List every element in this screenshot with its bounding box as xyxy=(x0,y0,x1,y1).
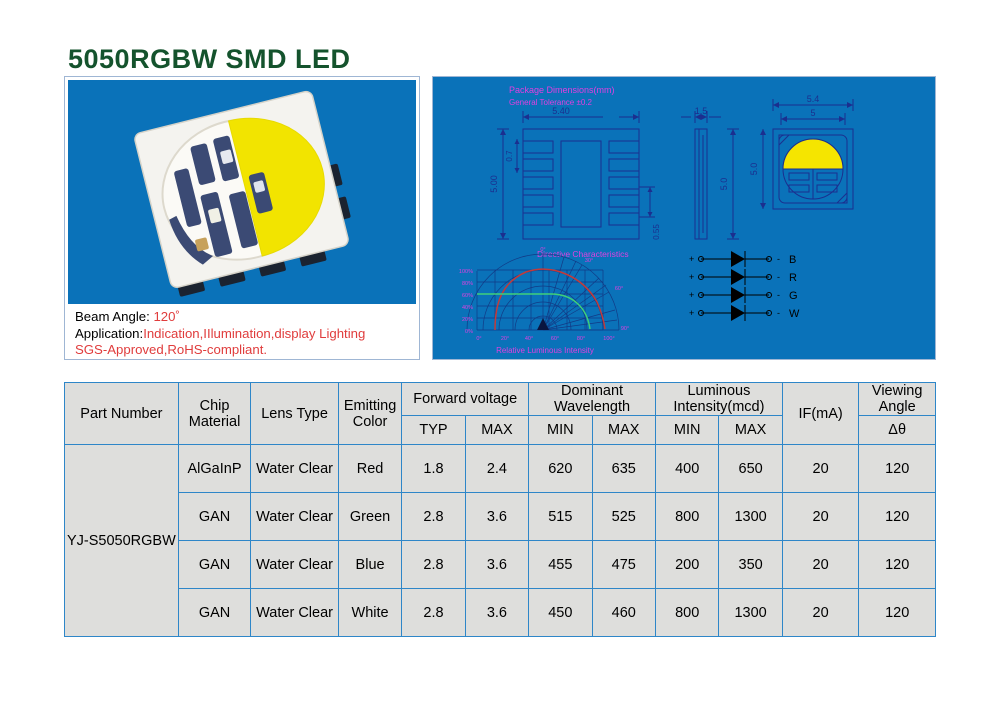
cell-emitting-color: White xyxy=(338,589,401,637)
datasheet-page: 5050RGBW SMD LED xyxy=(0,0,1000,704)
header-luminous-intensity-l2: Intensity(mcd) xyxy=(656,399,782,415)
dim-side-width: 1.5 xyxy=(695,106,708,116)
polar-ytick-1: 80% xyxy=(462,281,473,287)
cell-vf-typ: 2.8 xyxy=(402,493,465,541)
polarity-label-w: W xyxy=(789,308,800,320)
polar-xlabel: Relative Luminous Intensity xyxy=(496,346,594,355)
page-title: 5050RGBW SMD LED xyxy=(68,44,351,75)
header-wl-max: MAX xyxy=(592,416,655,445)
table-row: YJ-S5050RGBW AlGaInP Water Clear Red 1.8… xyxy=(65,445,936,493)
dim-width-top: 5.40 xyxy=(552,106,570,116)
cell-if: 20 xyxy=(782,445,859,493)
polar-angle-0: 0° xyxy=(540,247,545,253)
header-forward-voltage: Forward voltage xyxy=(402,383,529,416)
cell-chip-material: AlGaInP xyxy=(178,445,250,493)
application-label: Application: xyxy=(75,326,143,341)
photo-caption: Beam Angle: 120˚ Application:Indication,… xyxy=(75,309,413,359)
header-iv-max: MAX xyxy=(719,416,782,445)
dim-height-left: 5.00 xyxy=(489,175,499,193)
polar-angle-2: 60° xyxy=(615,286,623,292)
cell-wl-min: 620 xyxy=(529,445,592,493)
polar-ytick-0: 100% xyxy=(459,269,473,275)
specification-table: Part Number Chip Material Lens Type Emit… xyxy=(64,382,936,637)
cell-vf-typ: 1.8 xyxy=(402,445,465,493)
cell-chip-material: GAN xyxy=(178,541,250,589)
polar-xtick-0: 0° xyxy=(476,336,481,342)
dim-side-height: 5.0 xyxy=(719,178,729,191)
polarity-plus-b: + xyxy=(689,254,694,264)
cell-vf-max: 3.6 xyxy=(465,493,528,541)
compliance-line: SGS-Approved,RoHS-compliant. xyxy=(75,342,413,359)
header-viewing-angle-l1: Viewing xyxy=(859,383,935,399)
header-vf-max: MAX xyxy=(465,416,528,445)
cell-vf-max: 3.6 xyxy=(465,589,528,637)
cell-vf-max: 3.6 xyxy=(465,541,528,589)
polarity-minus-w: - xyxy=(777,308,780,318)
polar-angle-3: 90° xyxy=(621,326,629,332)
header-dominant-wavelength-l2: Wavelength xyxy=(529,399,655,415)
header-emitting-color: Emitting Color xyxy=(338,383,401,445)
polar-xtick-5: 100° xyxy=(603,336,614,342)
header-emitting-color-l1: Emitting xyxy=(339,398,401,414)
cell-vf-max: 2.4 xyxy=(465,445,528,493)
header-luminous-intensity-l1: Luminous xyxy=(656,383,782,399)
cell-lens-type: Water Clear xyxy=(251,493,339,541)
header-dominant-wavelength-l1: Dominant xyxy=(529,383,655,399)
cell-iv-min: 800 xyxy=(655,493,718,541)
application-value: Indication,IIlumination,display Lighting xyxy=(143,326,365,341)
cell-lens-type: Water Clear xyxy=(251,589,339,637)
polar-ytick-2: 60% xyxy=(462,293,473,299)
cell-lens-type: Water Clear xyxy=(251,445,339,493)
cell-iv-max: 1300 xyxy=(719,493,782,541)
cell-if: 20 xyxy=(782,541,859,589)
cell-emitting-color: Red xyxy=(338,445,401,493)
cell-lens-type: Water Clear xyxy=(251,541,339,589)
polar-ytick-4: 20% xyxy=(462,317,473,323)
product-photo-panel: Beam Angle: 120˚ Application:Indication,… xyxy=(64,76,420,360)
dim-top-outer: 5.4 xyxy=(807,94,820,104)
cell-iv-max: 350 xyxy=(719,541,782,589)
polar-angle-1: 30° xyxy=(585,258,593,264)
table-row: GAN Water Clear White 2.8 3.6 450 460 80… xyxy=(65,589,936,637)
led-photo-illustration xyxy=(68,80,416,303)
polar-ytick-3: 40% xyxy=(462,305,473,311)
polar-ytick-5: 0% xyxy=(465,329,473,335)
cell-vf-typ: 2.8 xyxy=(402,589,465,637)
header-dominant-wavelength: Dominant Wavelength xyxy=(529,383,656,416)
polarity-minus-r: - xyxy=(777,272,780,282)
polarity-label-g: G xyxy=(789,290,798,302)
cell-chip-material: GAN xyxy=(178,493,250,541)
polarity-plus-r: + xyxy=(689,272,694,282)
cell-iv-max: 1300 xyxy=(719,589,782,637)
header-emitting-color-l2: Color xyxy=(339,414,401,430)
dim-pad2: 0.55 xyxy=(652,224,661,240)
header-luminous-intensity: Luminous Intensity(mcd) xyxy=(655,383,782,416)
dim-top-left: 5.0 xyxy=(749,163,759,176)
cell-wl-max: 475 xyxy=(592,541,655,589)
cell-iv-min: 800 xyxy=(655,589,718,637)
cell-viewing-angle: 120 xyxy=(859,541,936,589)
beam-angle-line: Beam Angle: 120˚ xyxy=(75,309,413,326)
header-vf-typ: TYP xyxy=(402,416,465,445)
technical-drawing: Package Dimensions(mm) General Tolerance… xyxy=(433,77,935,359)
cell-viewing-angle: 120 xyxy=(859,589,936,637)
compliance-value: SGS-Approved,RoHS-compliant. xyxy=(75,342,267,357)
cell-wl-max: 635 xyxy=(592,445,655,493)
cell-viewing-angle: 120 xyxy=(859,445,936,493)
cell-iv-max: 650 xyxy=(719,445,782,493)
cell-emitting-color: Green xyxy=(338,493,401,541)
technical-drawing-panel: Package Dimensions(mm) General Tolerance… xyxy=(432,76,936,360)
beam-angle-label: Beam Angle: xyxy=(75,309,153,324)
polarity-plus-g: + xyxy=(689,290,694,300)
dim-top-inner: 5 xyxy=(810,108,815,118)
header-chip-material-l1: Chip xyxy=(179,398,250,414)
header-iv-min: MIN xyxy=(655,416,718,445)
polar-xtick-2: 40° xyxy=(525,336,533,342)
cell-wl-max: 460 xyxy=(592,589,655,637)
polarity-minus-g: - xyxy=(777,290,780,300)
tolerance-note: General Tolerance ±0.2 xyxy=(509,98,593,107)
header-viewing-angle-l2: Angle xyxy=(859,399,935,415)
cell-emitting-color: Blue xyxy=(338,541,401,589)
cell-viewing-angle: 120 xyxy=(859,493,936,541)
header-delta-theta: Δθ xyxy=(859,416,936,445)
polar-xtick-1: 20° xyxy=(501,336,509,342)
polarity-minus-b: - xyxy=(777,254,780,264)
header-chip-material: Chip Material xyxy=(178,383,250,445)
cell-if: 20 xyxy=(782,589,859,637)
header-viewing-angle: Viewing Angle xyxy=(859,383,936,416)
header-wl-min: MIN xyxy=(529,416,592,445)
header-part-number: Part Number xyxy=(65,383,179,445)
polarity-label-b: B xyxy=(789,254,796,266)
header-chip-material-l2: Material xyxy=(179,414,250,430)
polar-xtick-3: 60° xyxy=(551,336,559,342)
table-row: GAN Water Clear Blue 2.8 3.6 455 475 200… xyxy=(65,541,936,589)
polarity-label-r: R xyxy=(789,272,797,284)
application-line: Application:Indication,IIlumination,disp… xyxy=(75,326,413,343)
package-dimensions-title: Package Dimensions(mm) xyxy=(509,85,615,95)
header-if-ma: IF(mA) xyxy=(782,383,859,445)
cell-iv-min: 200 xyxy=(655,541,718,589)
cell-wl-min: 455 xyxy=(529,541,592,589)
cell-wl-min: 515 xyxy=(529,493,592,541)
table-header-row-1: Part Number Chip Material Lens Type Emit… xyxy=(65,383,936,416)
cell-if: 20 xyxy=(782,493,859,541)
cell-wl-min: 450 xyxy=(529,589,592,637)
header-lens-type: Lens Type xyxy=(251,383,339,445)
polar-xtick-4: 80° xyxy=(577,336,585,342)
cell-iv-min: 400 xyxy=(655,445,718,493)
table-row: GAN Water Clear Green 2.8 3.6 515 525 80… xyxy=(65,493,936,541)
cell-chip-material: GAN xyxy=(178,589,250,637)
cell-wl-max: 525 xyxy=(592,493,655,541)
beam-angle-value: 120˚ xyxy=(153,309,179,324)
cell-part-number: YJ-S5050RGBW xyxy=(65,445,179,637)
polarity-plus-w: + xyxy=(689,308,694,318)
cell-vf-typ: 2.8 xyxy=(402,541,465,589)
product-photo xyxy=(68,80,416,304)
dim-pad: 0.7 xyxy=(505,150,514,162)
